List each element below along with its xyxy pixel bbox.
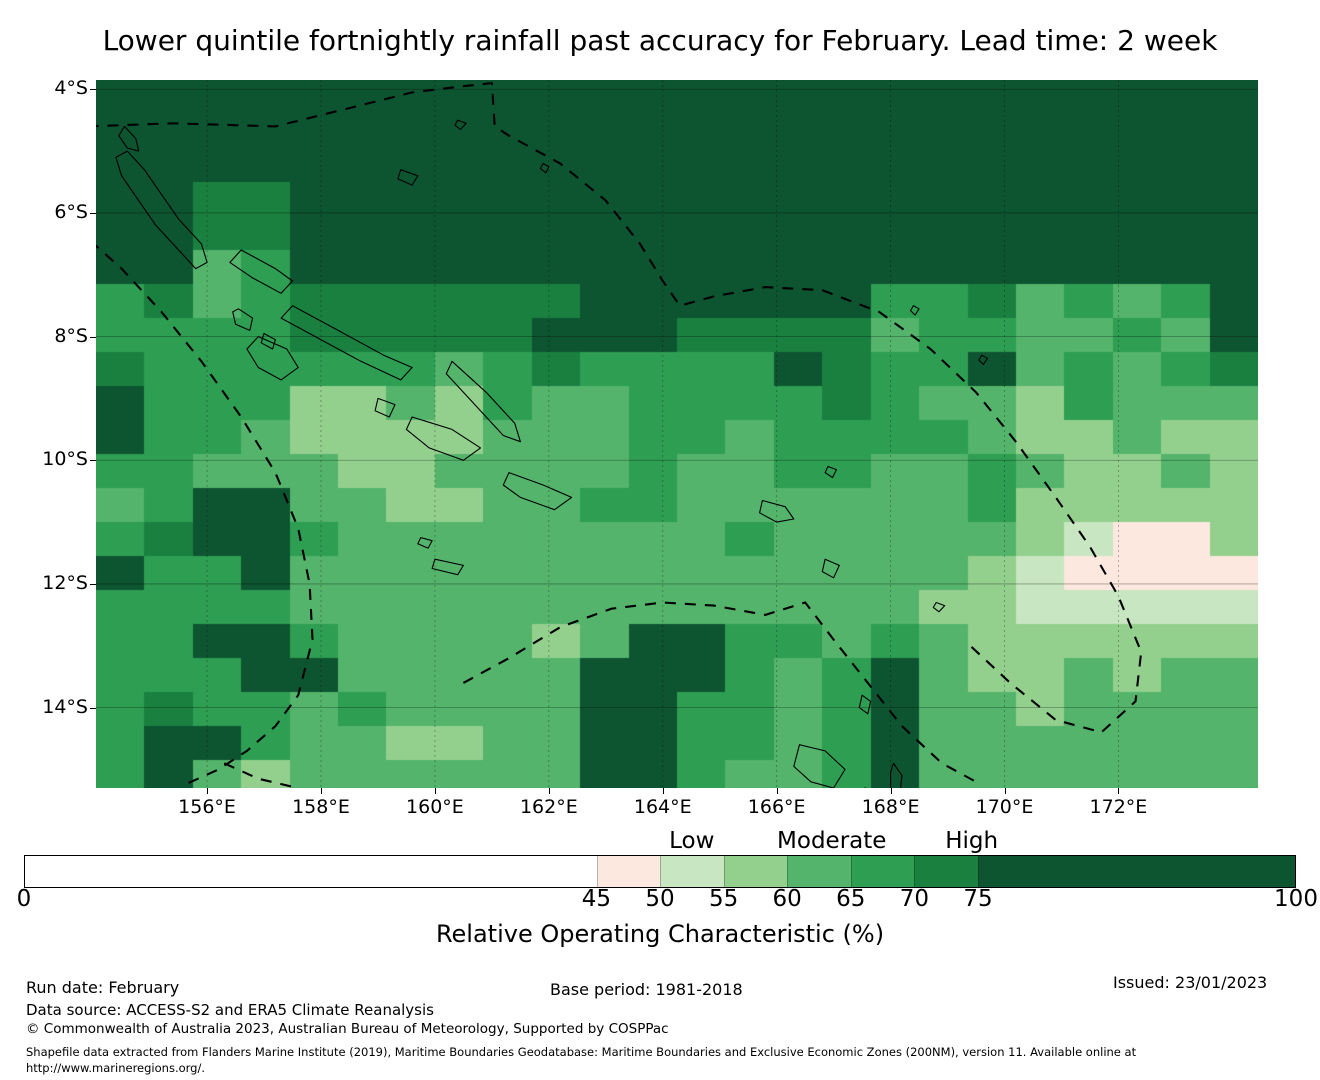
ytick-label-0: 4°S bbox=[54, 79, 88, 98]
xtick-label-5: 166°E bbox=[748, 798, 806, 817]
colorbar-category-1: Moderate bbox=[777, 830, 886, 853]
colorbar-tick-4: 60 bbox=[773, 888, 802, 911]
colorbar bbox=[24, 855, 1296, 888]
xtick-mark-8 bbox=[1118, 788, 1119, 794]
colorbar-tick-7: 75 bbox=[963, 888, 992, 911]
colorbar-segment-1 bbox=[597, 856, 661, 887]
xtick-mark-4 bbox=[663, 788, 664, 794]
xtick-label-3: 162°E bbox=[520, 798, 578, 817]
colorbar-tick-3: 55 bbox=[709, 888, 738, 911]
footer-shapefile-note: Shapefile data extracted from Flanders M… bbox=[26, 1044, 1136, 1076]
colorbar-category-2: High bbox=[945, 830, 998, 853]
footer-base-period: Base period: 1981-2018 bbox=[550, 980, 743, 999]
xtick-label-8: 172°E bbox=[1090, 798, 1148, 817]
ytick-mark-3 bbox=[90, 460, 96, 461]
xtick-label-7: 170°E bbox=[976, 798, 1034, 817]
ytick-label-1: 6°S bbox=[54, 203, 88, 222]
xtick-mark-5 bbox=[777, 788, 778, 794]
xtick-label-2: 160°E bbox=[406, 798, 464, 817]
ytick-mark-2 bbox=[90, 337, 96, 338]
footer-data-source: Data source: ACCESS-S2 and ERA5 Climate … bbox=[26, 1001, 434, 1019]
xtick-mark-6 bbox=[891, 788, 892, 794]
ytick-label-4: 12°S bbox=[42, 574, 88, 593]
map-plot-area bbox=[96, 80, 1258, 788]
colorbar-tick-2: 50 bbox=[645, 888, 674, 911]
roc-heatmap bbox=[96, 80, 1258, 788]
ytick-mark-0 bbox=[90, 89, 96, 90]
colorbar-tick-6: 70 bbox=[900, 888, 929, 911]
colorbar-tick-1: 45 bbox=[582, 888, 611, 911]
colorbar-segment-4 bbox=[787, 856, 851, 887]
colorbar-tick-5: 65 bbox=[836, 888, 865, 911]
colorbar-segment-0 bbox=[25, 856, 597, 887]
colorbar-axis-title: Relative Operating Characteristic (%) bbox=[0, 920, 1320, 948]
xtick-label-1: 158°E bbox=[292, 798, 350, 817]
colorbar-segment-3 bbox=[724, 856, 788, 887]
colorbar-segment-7 bbox=[978, 856, 1296, 887]
footer-copyright: © Commonwealth of Australia 2023, Austra… bbox=[26, 1021, 669, 1037]
xtick-mark-3 bbox=[549, 788, 550, 794]
colorbar-category-0: Low bbox=[669, 830, 714, 853]
ytick-mark-1 bbox=[90, 213, 96, 214]
xtick-mark-0 bbox=[207, 788, 208, 794]
footer-issued-date: Issued: 23/01/2023 bbox=[1113, 973, 1267, 992]
footer-shapefile-line2: http://www.marineregions.org/. bbox=[26, 1060, 1136, 1076]
footer-shapefile-line1: Shapefile data extracted from Flanders M… bbox=[26, 1044, 1136, 1060]
xtick-mark-2 bbox=[435, 788, 436, 794]
page-title: Lower quintile fortnightly rainfall past… bbox=[0, 24, 1320, 58]
colorbar-segment-6 bbox=[914, 856, 978, 887]
ytick-mark-5 bbox=[90, 708, 96, 709]
xtick-mark-1 bbox=[321, 788, 322, 794]
ytick-label-2: 8°S bbox=[54, 327, 88, 346]
xtick-label-0: 156°E bbox=[178, 798, 236, 817]
colorbar-segment-5 bbox=[851, 856, 915, 887]
ytick-label-5: 14°S bbox=[42, 698, 88, 717]
footer-run-date: Run date: February bbox=[26, 978, 179, 997]
colorbar-tick-0: 0 bbox=[17, 888, 32, 911]
xtick-label-6: 168°E bbox=[862, 798, 920, 817]
xtick-mark-7 bbox=[1005, 788, 1006, 794]
xtick-label-4: 164°E bbox=[634, 798, 692, 817]
ytick-label-3: 10°S bbox=[42, 450, 88, 469]
colorbar-tick-8: 100 bbox=[1274, 888, 1318, 911]
colorbar-segment-2 bbox=[660, 856, 724, 887]
ytick-mark-4 bbox=[90, 584, 96, 585]
